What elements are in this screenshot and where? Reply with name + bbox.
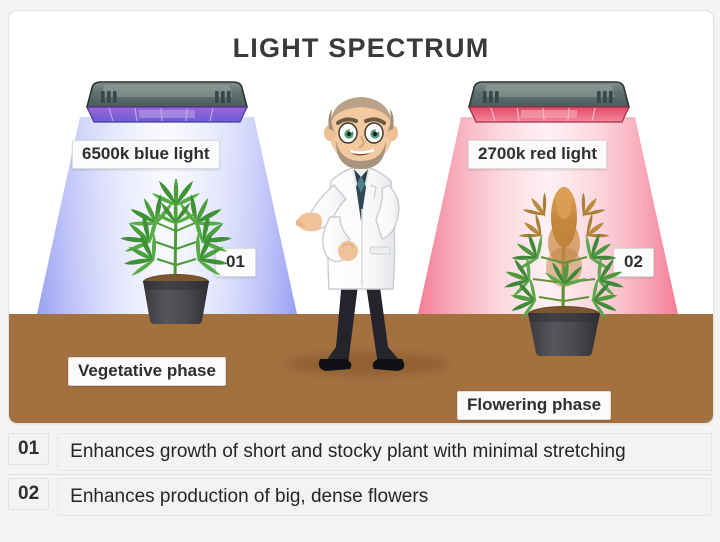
flowering-cannabis-plant — [501, 171, 627, 356]
caption-text-02: Enhances production of big, dense flower… — [57, 478, 712, 516]
infographic-page: LIGHT SPECTRUM — [0, 0, 720, 542]
caption-number-01: 01 — [8, 433, 49, 465]
page-title: LIGHT SPECTRUM — [9, 33, 713, 64]
caption-row-02: 02 Enhances production of big, dense flo… — [8, 474, 712, 519]
vegetative-cannabis-plant — [117, 179, 237, 324]
red-light-label: 2700k red light — [468, 140, 607, 169]
flowering-phase-label: Flowering phase — [457, 391, 611, 420]
blue-led-grow-light — [79, 79, 255, 129]
caption-row-01: 01 Enhances growth of short and stocky p… — [8, 430, 712, 474]
caption-number-02: 02 — [8, 478, 49, 510]
light-spectrum-card: LIGHT SPECTRUM — [8, 10, 714, 424]
scientist-character-pointing — [296, 89, 426, 377]
red-led-grow-light — [461, 79, 637, 129]
vegetative-phase-label: Vegetative phase — [68, 357, 226, 386]
blue-light-label: 6500k blue light — [72, 140, 220, 169]
caption-text-01: Enhances growth of short and stocky plan… — [57, 433, 712, 471]
caption-list: 01 Enhances growth of short and stocky p… — [8, 430, 712, 519]
